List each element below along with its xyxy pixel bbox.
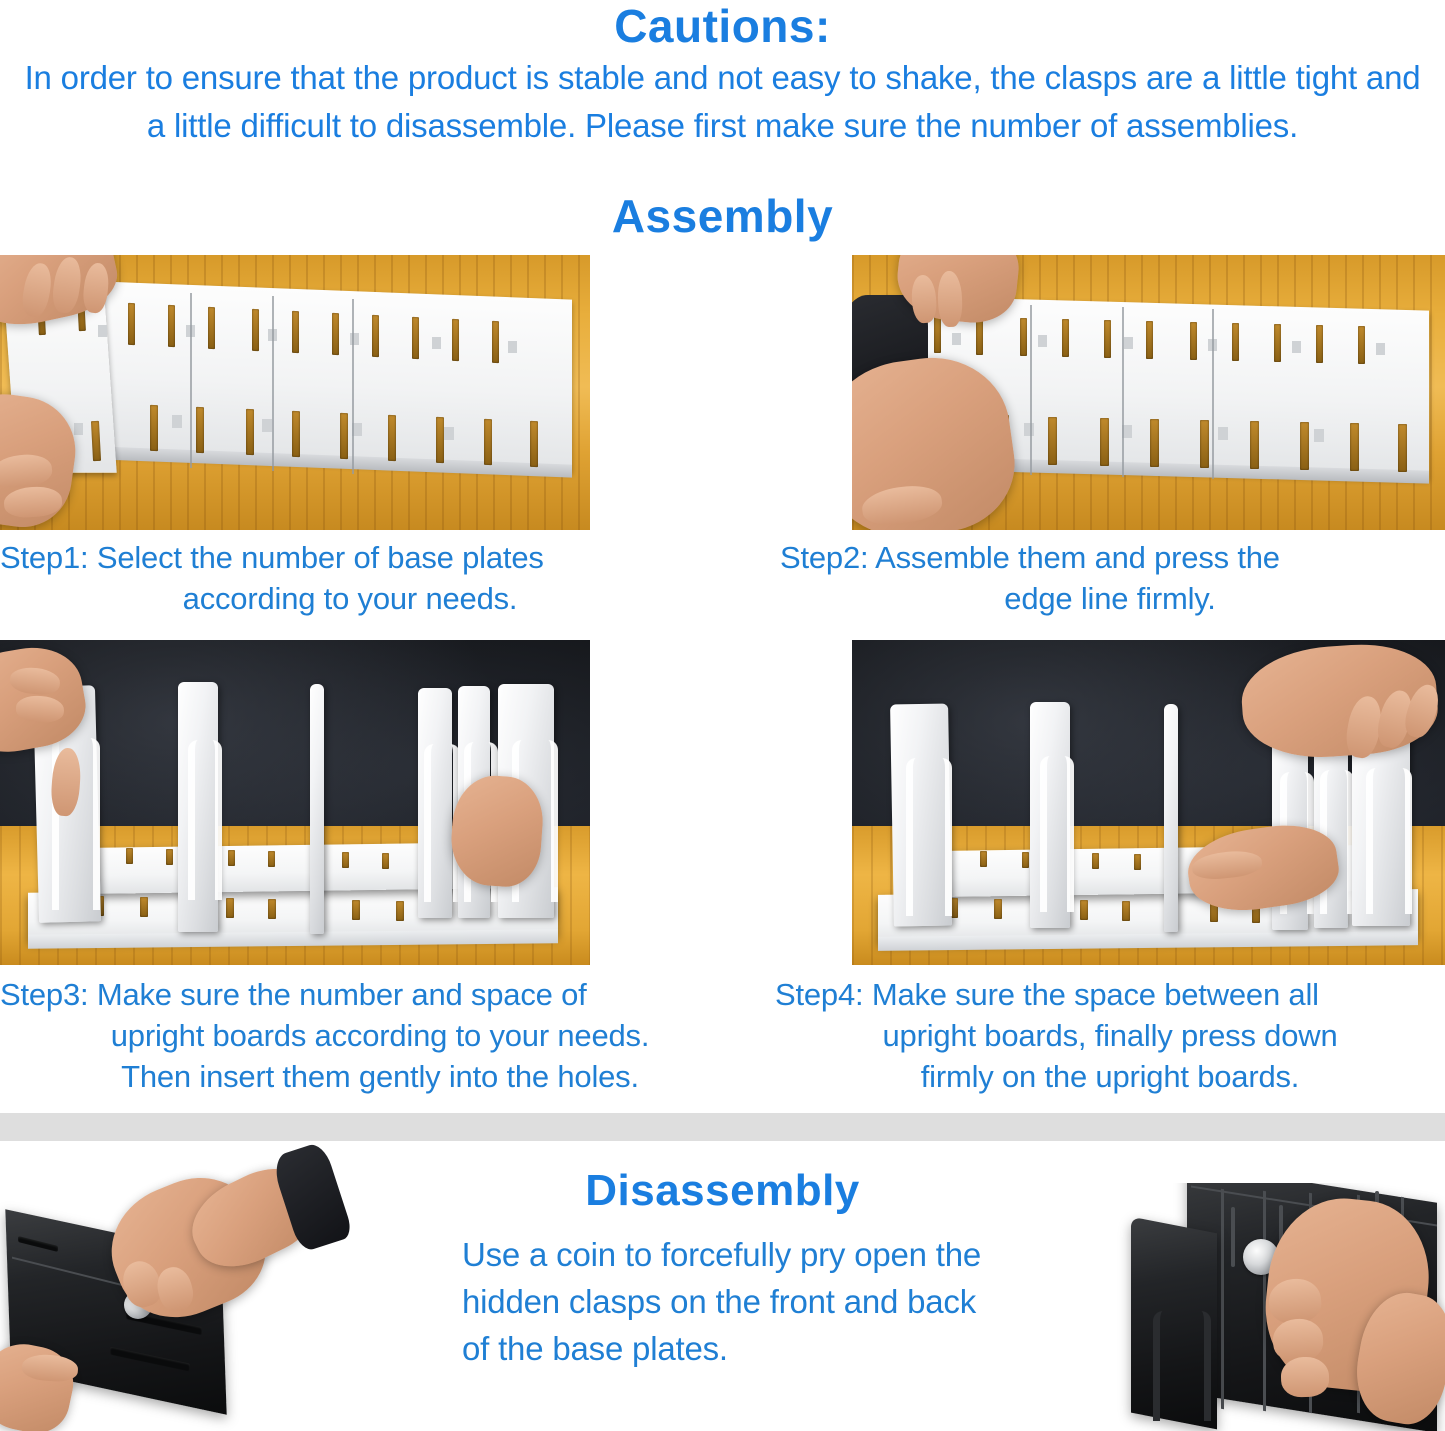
step2-photo [852,255,1445,530]
step2-caption-line2: edge line firmly. [780,579,1440,620]
step1-caption: Step1: Select the number of base plates … [0,538,700,620]
disassembly-instructions: Use a coin to forcefully pry open the hi… [462,1232,1062,1373]
cautions-body: In order to ensure that the product is s… [0,50,1445,150]
disassembly-line2: hidden clasps on the front and back [462,1279,1062,1326]
step3-caption-line1: Step3: Make sure the number and space of [0,975,760,1016]
step3-caption-line3: Then insert them gently into the holes. [0,1057,760,1098]
step4-caption-line3: firmly on the upright boards. [775,1057,1445,1098]
step4-caption-line1: Step4: Make sure the space between all [775,975,1445,1016]
instruction-sheet: Cautions: In order to ensure that the pr… [0,0,1445,1431]
disassembly-photo-left [0,1141,400,1431]
assembly-section-header: Assembly [0,186,1445,246]
disassembly-line3: of the base plates. [462,1326,1062,1373]
step1-photo [0,255,590,530]
cautions-title: Cautions: [0,0,1445,50]
step4-caption: Step4: Make sure the space between all u… [775,975,1445,1098]
step2-caption: Step2: Assemble them and press the edge … [780,538,1440,620]
step4-caption-line2: upright boards, finally press down [775,1016,1445,1057]
cautions-section: Cautions: In order to ensure that the pr… [0,0,1445,150]
step2-caption-line1: Step2: Assemble them and press the [780,538,1440,579]
assembly-title: Assembly [612,192,833,240]
step3-caption-line2: upright boards according to your needs. [0,1016,760,1057]
disassembly-photo-right [1113,1183,1445,1431]
step1-caption-line1: Step1: Select the number of base plates [0,538,700,579]
section-divider [0,1113,1445,1141]
step1-caption-line2: according to your needs. [0,579,700,620]
step3-photo [0,640,590,965]
disassembly-line1: Use a coin to forcefully pry open the [462,1232,1062,1279]
step4-photo [852,640,1445,965]
step3-caption: Step3: Make sure the number and space of… [0,975,760,1098]
